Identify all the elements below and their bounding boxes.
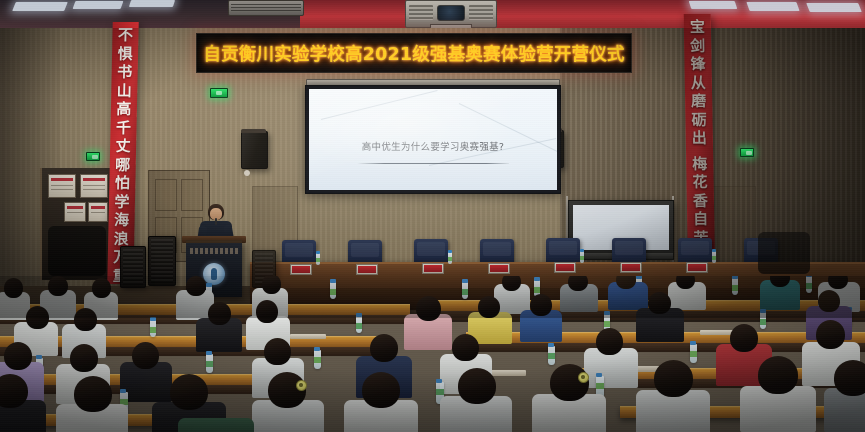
audience-head [132,342,159,369]
audience-head [362,372,400,408]
water-bottle [548,346,555,365]
audience-head [70,344,98,372]
ceiling-light [129,0,175,7]
water-bottle [690,344,697,363]
audience-head [730,324,758,352]
projector-lens [437,5,465,21]
hair-clip [578,372,589,383]
audience-head [458,368,496,404]
ceiling-light [746,2,799,11]
hair-clip [296,380,307,391]
audience-head [370,334,398,362]
projector-vent-left [409,5,433,20]
audience-head [0,374,28,408]
audience-head [816,320,845,349]
audience-head [4,342,32,370]
audience-head [170,374,208,410]
projector-vent-right [469,5,493,20]
notebook [290,334,326,339]
audience-head [654,360,693,397]
auditorium-photo: 自贡衡川实验学校高2021级强基奥赛体验营开营仪式 高中优生为什么要学习奥赛强基… [0,0,865,432]
audience-head [758,356,798,394]
audience-member [178,418,254,432]
audience-head [834,360,865,396]
audience-head [452,334,479,361]
audience-head [596,328,623,355]
water-bottle [206,354,213,373]
audience-head [264,338,291,365]
water-bottle [356,316,362,333]
ceiling-light [806,3,862,12]
ceiling-light [12,2,68,11]
ceiling-ac-vent [228,0,304,16]
audience-head [74,376,112,412]
photo-vignette [0,28,865,318]
water-bottle [150,320,156,337]
water-bottle [314,350,321,369]
ceiling-light [689,1,738,9]
ceiling-light [73,1,124,9]
